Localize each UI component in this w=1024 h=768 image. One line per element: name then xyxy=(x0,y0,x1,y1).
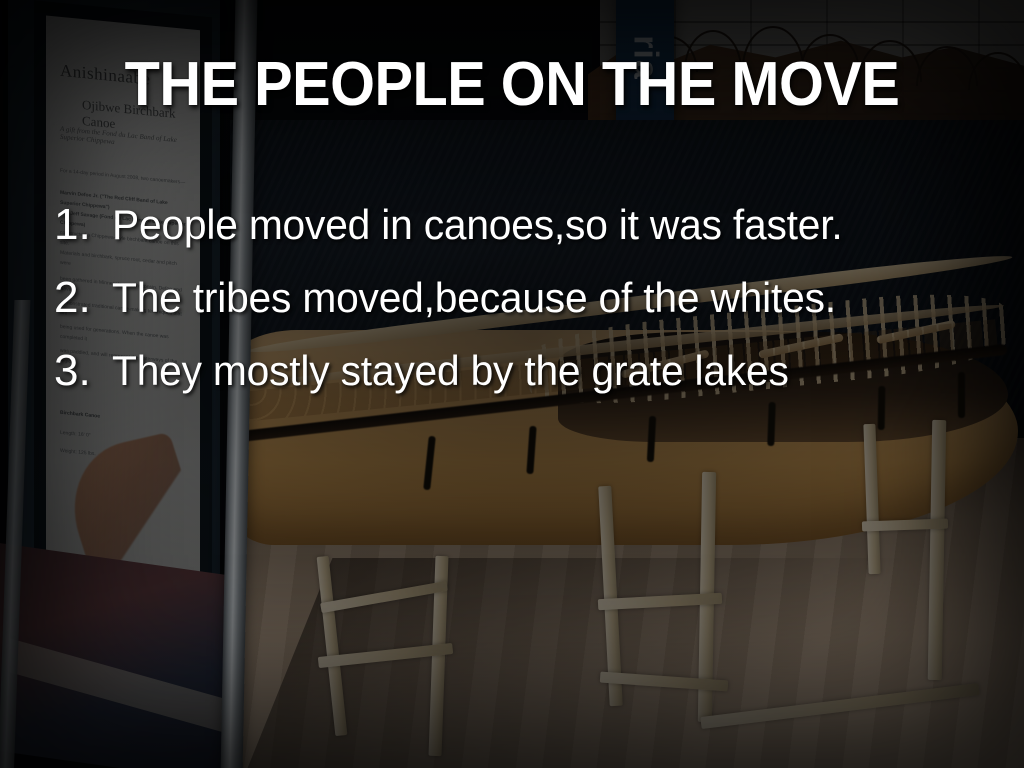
list-item-text: The tribes moved,because of the whites. xyxy=(112,274,836,322)
list-item-number: 2. xyxy=(54,273,112,323)
list-item: 1. People moved in canoes,so it was fast… xyxy=(54,200,1000,273)
list-item: 2. The tribes moved,because of the white… xyxy=(54,273,1000,346)
list-item-number: 3. xyxy=(54,346,112,396)
bullet-list: 1. People moved in canoes,so it was fast… xyxy=(54,200,1000,419)
presentation-slide: ria xyxy=(0,0,1024,768)
list-item: 3. They mostly stayed by the grate lakes xyxy=(54,346,1000,419)
slide-title: THE PEOPLE ON THE MOVE xyxy=(36,54,988,116)
slide-text-layer: THE PEOPLE ON THE MOVE 1. People moved i… xyxy=(0,0,1024,768)
list-item-number: 1. xyxy=(54,200,112,250)
list-item-text: People moved in canoes,so it was faster. xyxy=(112,201,843,249)
list-item-text: They mostly stayed by the grate lakes xyxy=(112,347,789,395)
